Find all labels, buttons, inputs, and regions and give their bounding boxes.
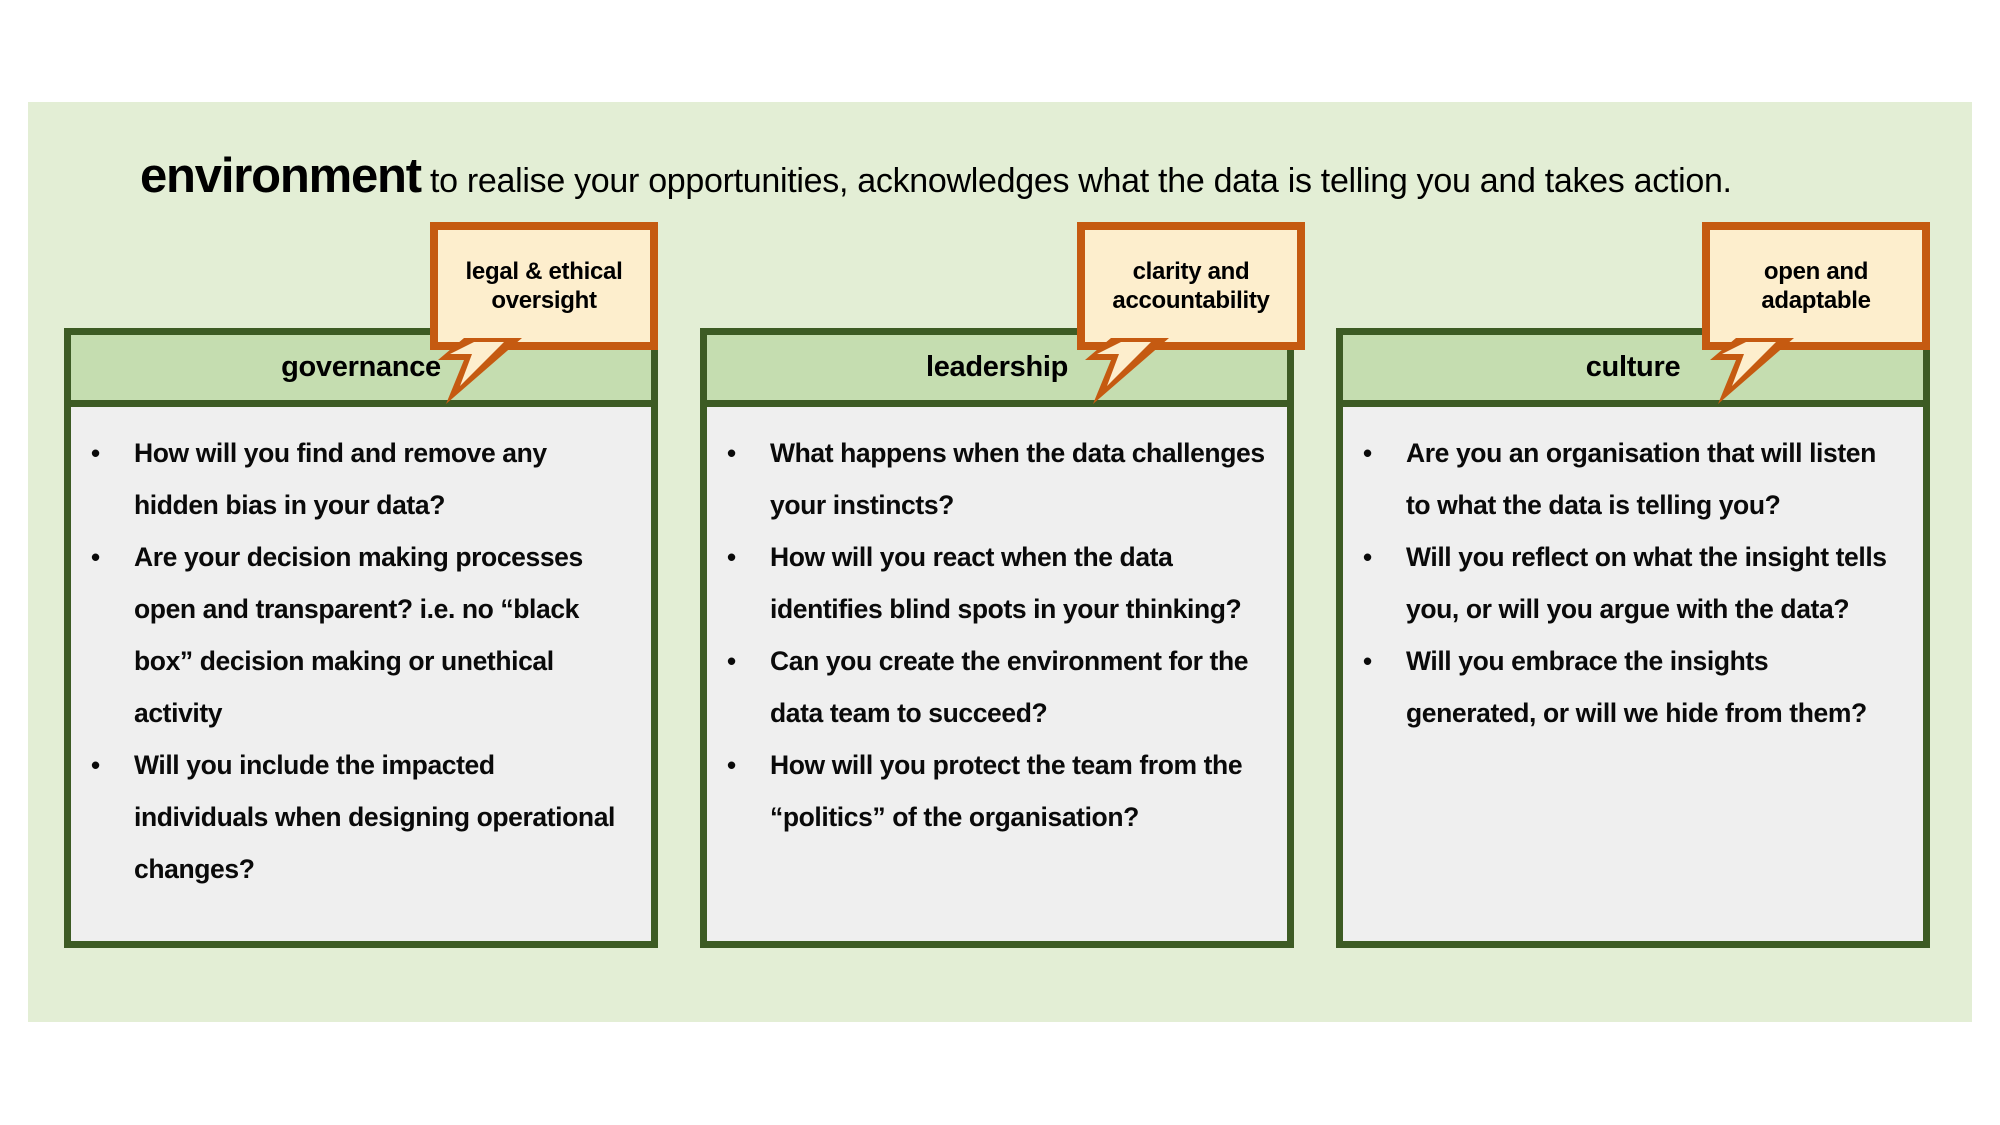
card-leadership-title: leadership bbox=[926, 351, 1068, 384]
page-title: environment to realise your opportunitie… bbox=[140, 148, 1900, 208]
card-governance-bullet-list: How will you find and remove any hidden … bbox=[77, 427, 633, 895]
card-governance[interactable]: governance How will you find and remove … bbox=[64, 328, 658, 948]
list-item: Will you embrace the insights generated,… bbox=[1349, 635, 1905, 739]
callout-governance-label: legal & ethical oversight bbox=[438, 257, 650, 315]
card-leadership-body: What happens when the data challenges yo… bbox=[707, 407, 1287, 843]
card-leadership[interactable]: leadership What happens when the data ch… bbox=[700, 328, 1294, 948]
callout-leadership[interactable]: clarity and accountability bbox=[1077, 222, 1305, 350]
callout-culture[interactable]: open and adaptable bbox=[1702, 222, 1930, 350]
card-governance-title: governance bbox=[281, 351, 441, 384]
callout-governance[interactable]: legal & ethical oversight bbox=[430, 222, 658, 350]
card-culture-body: Are you an organisation that will listen… bbox=[1343, 407, 1923, 739]
callout-culture-label: open and adaptable bbox=[1710, 257, 1922, 315]
list-item: Can you create the environment for the d… bbox=[713, 635, 1269, 739]
card-governance-body: How will you find and remove any hidden … bbox=[71, 407, 651, 895]
headline-keyword: environment bbox=[140, 149, 421, 203]
list-item: How will you protect the team from the “… bbox=[713, 739, 1269, 843]
list-item: How will you find and remove any hidden … bbox=[77, 427, 633, 531]
callout-leadership-label: clarity and accountability bbox=[1085, 257, 1297, 315]
card-culture-bullet-list: Are you an organisation that will listen… bbox=[1349, 427, 1905, 739]
card-leadership-bullet-list: What happens when the data challenges yo… bbox=[713, 427, 1269, 843]
card-culture-title: culture bbox=[1586, 351, 1681, 384]
list-item: Will you include the impacted individual… bbox=[77, 739, 633, 895]
slide-canvas: environment to realise your opportunitie… bbox=[0, 0, 2000, 1125]
card-culture[interactable]: culture Are you an organisation that wil… bbox=[1336, 328, 1930, 948]
list-item: Will you reflect on what the insight tel… bbox=[1349, 531, 1905, 635]
list-item: How will you react when the data identif… bbox=[713, 531, 1269, 635]
headline-description: to realise your opportunities, acknowled… bbox=[421, 162, 1732, 200]
list-item: What happens when the data challenges yo… bbox=[713, 427, 1269, 531]
list-item: Are your decision making processes open … bbox=[77, 531, 633, 739]
list-item: Are you an organisation that will listen… bbox=[1349, 427, 1905, 531]
